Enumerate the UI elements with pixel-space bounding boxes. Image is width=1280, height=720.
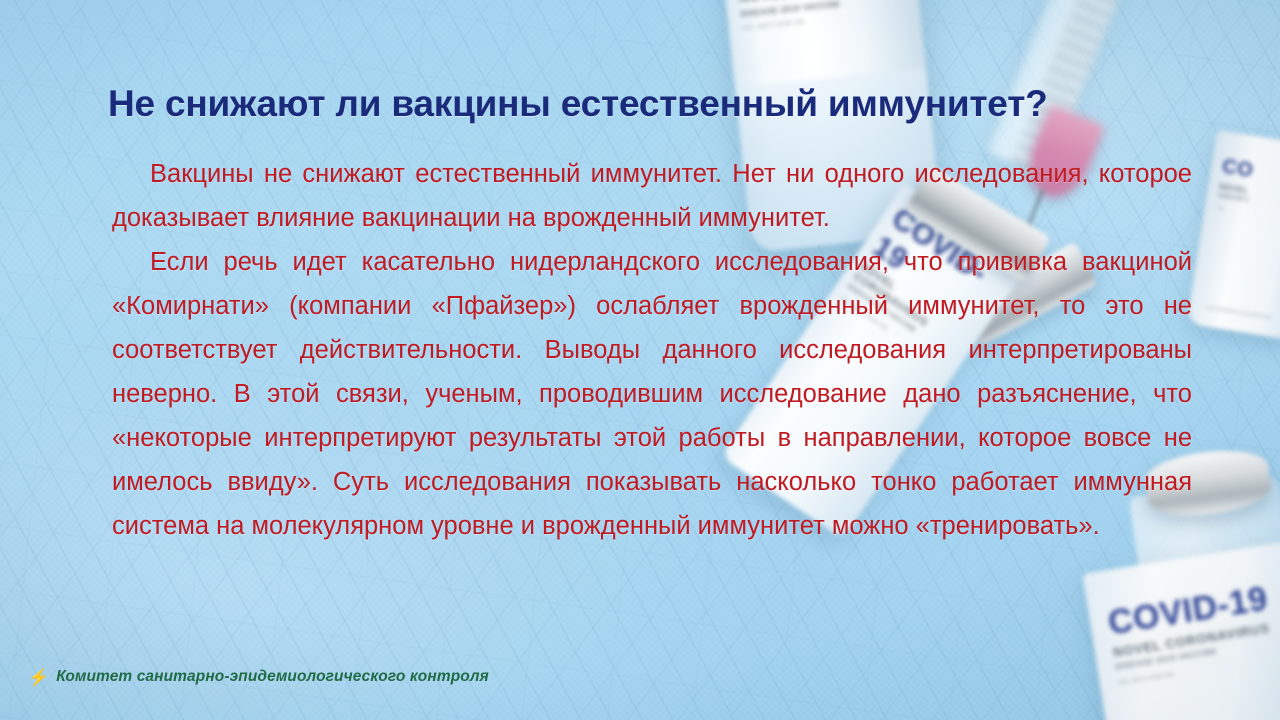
body-paragraph-1: Вакцины не снижают естественный иммуните… <box>112 152 1192 240</box>
body-paragraph-2: Если речь идет касательно нидерландского… <box>112 240 1192 548</box>
slide-content: Не снижают ли вакцины естественный иммун… <box>0 0 1280 720</box>
slide-title: Не снижают ли вакцины естественный иммун… <box>108 83 1198 125</box>
footer-organization-label: Комитет санитарно-эпидемиологического ко… <box>56 668 489 686</box>
slide-body-text: Вакцины не снижают естественный иммуните… <box>112 152 1192 548</box>
presentation-slide: NOVEL CORONAVIRUS DISEASE 2019 VACCINE 5… <box>0 0 1280 720</box>
lightning-bolt-icon: ⚡ <box>28 669 49 686</box>
slide-footer: ⚡ Комитет санитарно-эпидемиологического … <box>28 668 489 686</box>
